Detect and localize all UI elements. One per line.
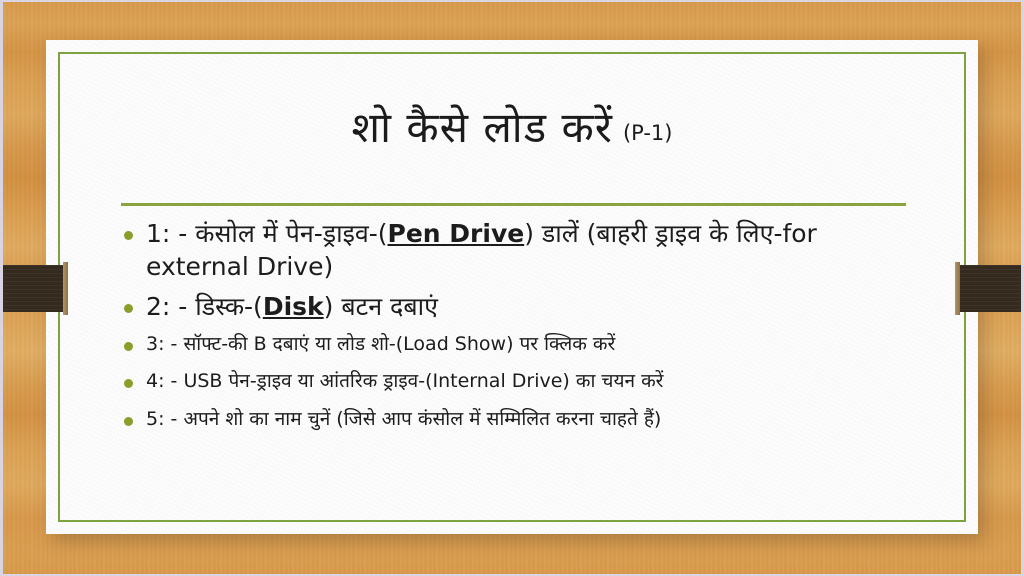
right-clip-cap xyxy=(955,262,960,315)
slide-content: शो कैसे लोड करें(P-1) 1: - कंसोल में पेन… xyxy=(46,40,978,534)
left-clip-decoration xyxy=(0,265,68,312)
title-divider xyxy=(121,203,906,206)
list-item: 3: - सॉफ्ट-की B दबाएं या लोड शो-(Load Sh… xyxy=(124,332,924,357)
bullet-text-2: 2: - डिस्क-(Disk) बटन दबाएं xyxy=(146,291,438,324)
list-item: 5: - अपने शो का नाम चुनें (जिसे आप कंसोल… xyxy=(124,407,924,432)
left-clip-cap xyxy=(63,262,68,315)
bullet-prefix-5: 5: - xyxy=(146,408,183,430)
presentation-slide: शो कैसे लोड करें(P-1) 1: - कंसोल में पेन… xyxy=(0,0,1024,576)
bullet-prefix-2: 2: - xyxy=(146,292,195,321)
bullet-dot-icon xyxy=(124,417,133,426)
list-item: 2: - डिस्क-(Disk) बटन दबाएं xyxy=(124,291,924,324)
list-item: 4: - USB पेन-ड्राइव या आंतरिक ड्राइव-(In… xyxy=(124,369,924,394)
list-item: 1: - कंसोल में पेन-ड्राइव-(Pen Drive) डा… xyxy=(124,218,924,283)
bullet-before-1: कंसोल में पेन-ड्राइव-( xyxy=(195,219,387,248)
slide-title-row: शो कैसे लोड करें(P-1) xyxy=(46,98,978,155)
bullet-text-1: 1: - कंसोल में पेन-ड्राइव-(Pen Drive) डा… xyxy=(146,218,924,283)
bullet-dot-icon xyxy=(124,379,133,388)
bullet-dot-icon xyxy=(124,342,133,351)
right-clip-decoration xyxy=(955,265,1024,312)
bullet-after-2: ) बटन दबाएं xyxy=(324,292,438,321)
bullet-before-3: सॉफ्ट-की B दबाएं या लोड शो-(Load Show) प… xyxy=(183,333,615,355)
bullet-prefix-1: 1: - xyxy=(146,219,195,248)
bullet-prefix-3: 3: - xyxy=(146,333,183,355)
bullet-text-3: 3: - सॉफ्ट-की B दबाएं या लोड शो-(Load Sh… xyxy=(146,332,615,357)
slide-title-suffix: (P-1) xyxy=(623,121,673,145)
bullet-dot-icon xyxy=(124,304,133,313)
bullet-list: 1: - कंसोल में पेन-ड्राइव-(Pen Drive) डा… xyxy=(124,218,924,445)
bullet-before-5: अपने शो का नाम चुनें (जिसे आप कंसोल में … xyxy=(183,408,661,430)
bullet-text-4: 4: - USB पेन-ड्राइव या आंतरिक ड्राइव-(In… xyxy=(146,369,663,394)
bullet-emphasis-1: Pen Drive xyxy=(388,219,525,248)
bullet-before-2: डिस्क-( xyxy=(195,292,263,321)
bullet-before-4: USB पेन-ड्राइव या आंतरिक ड्राइव-(Interna… xyxy=(183,370,663,392)
bullet-emphasis-2: Disk xyxy=(263,292,324,321)
bullet-prefix-4: 4: - xyxy=(146,370,183,392)
slide-title: शो कैसे लोड करें xyxy=(352,103,613,152)
bullet-text-5: 5: - अपने शो का नाम चुनें (जिसे आप कंसोल… xyxy=(146,407,661,432)
bullet-dot-icon xyxy=(124,231,133,240)
